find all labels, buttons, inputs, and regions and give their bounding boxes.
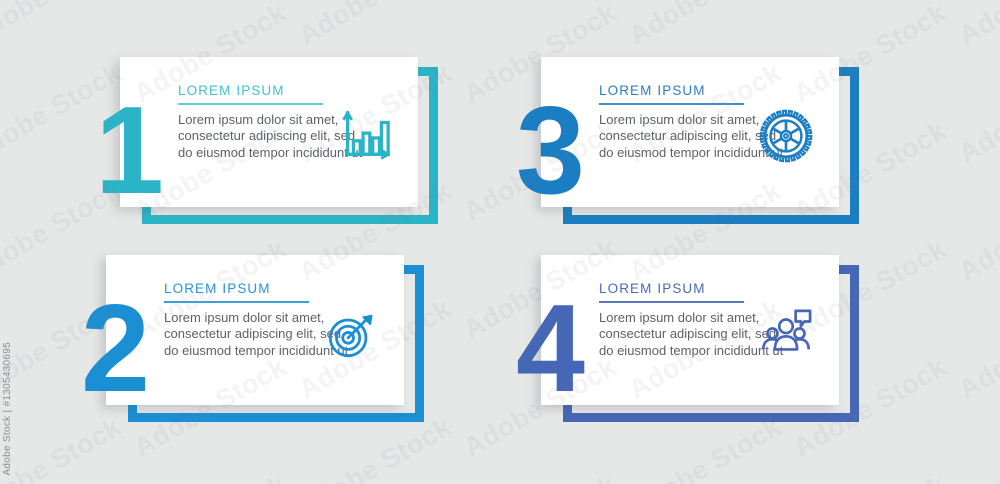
panel-rule-3 xyxy=(599,103,744,105)
panel-number-1: 1 xyxy=(82,101,174,203)
panel-text-block-2: LOREM IPSUM Lorem ipsum dolor sit amet, … xyxy=(164,281,349,359)
infographic-board: 1 LOREM IPSUM Lorem ipsum dolor sit amet… xyxy=(0,0,1000,484)
bar-chart-icon xyxy=(338,109,392,163)
people-chat-icon xyxy=(759,307,813,361)
panel-number-2: 2 xyxy=(68,299,160,401)
panel-description-3: Lorem ipsum dolor sit amet, consectetur … xyxy=(599,112,784,162)
infographic-panel-2[interactable]: 2 LOREM IPSUM Lorem ipsum dolor sit amet… xyxy=(68,255,424,422)
panel-description-4: Lorem ipsum dolor sit amet, consectetur … xyxy=(599,310,784,360)
panel-number-3: 3 xyxy=(503,101,595,203)
stock-watermark-id: Adobe Stock | #1305430695 xyxy=(2,342,13,476)
panel-heading-2: LOREM IPSUM xyxy=(164,281,349,296)
panel-rule-4 xyxy=(599,301,744,303)
infographic-panel-3[interactable]: 3 LOREM IPSUM Lorem ipsum dolor sit amet… xyxy=(503,57,859,224)
panel-number-4: 4 xyxy=(503,299,595,401)
infographic-panel-1[interactable]: 1 LOREM IPSUM Lorem ipsum dolor sit amet… xyxy=(82,57,438,224)
panel-text-block-3: LOREM IPSUM Lorem ipsum dolor sit amet, … xyxy=(599,83,784,161)
panel-heading-4: LOREM IPSUM xyxy=(599,281,784,296)
panel-description-2: Lorem ipsum dolor sit amet, consectetur … xyxy=(164,310,349,360)
target-icon xyxy=(324,307,378,361)
panel-rule-1 xyxy=(178,103,323,105)
panel-heading-3: LOREM IPSUM xyxy=(599,83,784,98)
panel-rule-2 xyxy=(164,301,309,303)
panel-text-block-4: LOREM IPSUM Lorem ipsum dolor sit amet, … xyxy=(599,281,784,359)
panel-description-1: Lorem ipsum dolor sit amet, consectetur … xyxy=(178,112,363,162)
gear-wheel-icon xyxy=(759,109,813,163)
panel-heading-1: LOREM IPSUM xyxy=(178,83,363,98)
panel-text-block-1: LOREM IPSUM Lorem ipsum dolor sit amet, … xyxy=(178,83,363,161)
infographic-panel-4[interactable]: 4 LOREM IPSUM Lorem ipsum dolor sit amet… xyxy=(503,255,859,422)
